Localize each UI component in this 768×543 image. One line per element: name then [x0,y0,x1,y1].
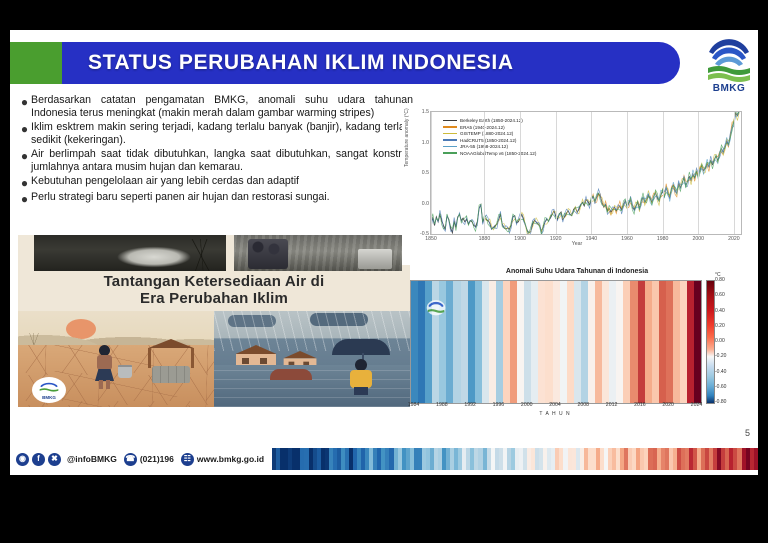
legend-label: NOAAGlobalTemp v6 (1850-2024.12) [460,151,536,156]
chart1-legend-item: GISTEMP (1880-2024.12) [443,131,536,136]
bmkg-badge-text: BMKG [42,395,56,400]
stripe-year [475,281,482,403]
website-url: www.bmkg.go.id [197,454,264,464]
chart2-x-tick: 1996 [493,402,505,408]
slide-number: 5 [745,428,750,438]
chart2-x-tick: 2012 [606,402,618,408]
chart1-gridline [591,112,592,234]
phone-icon[interactable]: ☎ [124,453,137,466]
photo-collage: Tantangan Ketersediaan Air di Era Peruba… [18,235,410,407]
illustration: BMKG [18,311,410,407]
colorbar-tick: 0.00 [715,338,725,344]
chart1-gridline [698,112,699,234]
colorbar-tick: -0.80 [715,399,726,405]
stripe-year [623,281,630,403]
footer-contact: ◉ f ✖ @infoBMKG ☎ (021)196 ☷ www.bmkg.go… [10,448,272,470]
title-blue-banner: STATUS PERUBAHAN IKLIM INDONESIA [62,42,680,84]
bmkg-watermark-badge: BMKG [32,377,66,403]
bullet-item: ● Air berlimpah saat tidak dibutuhkan, l… [18,148,413,174]
bullet-item: ● Berdasarkan catatan pengamatan BMKG, a… [18,94,413,120]
stripe-year [567,281,574,403]
bmkg-logo-text: BMKG [700,83,758,94]
legend-color-swatch [443,146,457,148]
collage-title-line2: Era Perubahan Iklim [18,290,410,307]
figure-leg [99,380,103,389]
stripe-year [531,281,538,403]
global-temperature-chart: Temperature anomaly (°C) Berkeley Earth … [402,105,752,265]
footer-bar: ◉ f ✖ @infoBMKG ☎ (021)196 ☷ www.bmkg.go… [10,448,758,470]
legend-label: Berkeley Earth (1850-2024.12) [460,118,523,123]
chart1-x-tick: 1880 [479,236,491,242]
stripe-year [453,281,460,403]
title-green-accent [10,42,62,84]
stripe-year [545,281,552,403]
chart2-x-tick: 2008 [578,402,590,408]
phone-number: (021)196 [140,454,174,464]
chart1-gridline [520,112,521,234]
colorbar-tick: -0.60 [715,384,726,390]
collage-title: Tantangan Ketersediaan Air di Era Peruba… [18,273,410,307]
stripe-year [574,281,581,403]
chart2-x-tick: 2000 [521,402,533,408]
chart1-y-axis-label: Temperature anomaly (°C) [404,108,410,167]
chart1-x-axis-label: Year [572,241,582,247]
chart1-legend: Berkeley Earth (1850-2024.12)ERA5 (1940-… [443,118,536,157]
stripe-year [524,281,531,403]
stripe-year [538,281,545,403]
bucket-icon [118,365,132,378]
umbrella-icon [332,339,390,355]
flood-illustration [214,311,410,407]
colorbar-tick: 0.60 [715,292,725,298]
chart1-gridline [556,112,557,234]
chart1-gridline [484,112,485,234]
indonesia-warming-stripes-chart: Anomali Suhu Udara Tahunan di Indonesia … [402,268,752,438]
stripe-year [581,281,588,403]
figure-torso [97,355,112,370]
chart1-y-tick: 1.5 [422,109,429,115]
figure-skirt [95,369,114,381]
well-post [191,348,194,368]
chart1-gridline [431,112,432,234]
chart1-series-1 [591,112,739,215]
globe-icon[interactable]: ☷ [181,453,194,466]
stripe-year [616,281,623,403]
house-window [260,358,267,364]
bullet-text: Berdasarkan catatan pengamatan BMKG, ano… [31,94,413,120]
presentation-slide: STATUS PERUBAHAN IKLIM INDONESIA BMKG ● … [10,30,758,475]
figure-legs [354,387,368,395]
social-handle: @infoBMKG [67,454,117,464]
colorbar-tick: 0.40 [715,308,725,314]
chart1-x-tick: 1960 [621,236,633,242]
chart2-x-tick: 2004 [549,402,561,408]
stripe-year [687,281,694,403]
stripe-year [560,281,567,403]
colorbar-tick: -0.40 [715,369,726,375]
stripe-year [602,281,609,403]
house-roof [280,351,321,358]
chart1-x-tick: 1940 [586,236,598,242]
chart1-x-tick: 1920 [550,236,562,242]
woman-figure [92,345,118,389]
stripe-year [411,281,418,403]
colorbar-tick: 0.20 [715,323,725,329]
figure-leg [106,380,110,389]
screenshot-root: STATUS PERUBAHAN IKLIM INDONESIA BMKG ● … [0,0,768,543]
chart1-x-tick: 2020 [728,236,740,242]
stripe-year [496,281,503,403]
chart1-plot-area: Berkeley Earth (1850-2024.12)ERA5 (1940-… [430,111,742,235]
chart1-gridline [627,112,628,234]
stripe-year [652,281,659,403]
chart1-y-tick: 0.5 [422,170,429,176]
bullet-dot-icon: ● [18,175,31,190]
house-roof [231,345,281,354]
chart1-legend-item: JRA-55 (1958-2024.12) [443,144,536,149]
bmkg-logo: BMKG [700,35,758,103]
bullet-text: Iklim esktrem makin sering terjadi, kada… [31,121,413,147]
bmkg-logo-mark [703,35,755,85]
legend-color-swatch [443,139,457,141]
bullet-dot-icon: ● [18,148,31,174]
chart2-x-tick: 2024 [691,402,703,408]
legend-color-swatch [443,120,457,122]
chart1-x-tick: 1850 [425,236,437,242]
bmkg-watermark-icon [425,299,447,323]
stripe-year [680,281,687,403]
stripe-year [694,281,701,403]
bullet-dot-icon: ● [18,94,31,120]
legend-color-swatch [443,126,457,128]
chart2-x-tick: 1992 [464,402,476,408]
stripe-year [482,281,489,403]
chart1-y-tick: 0.0 [422,201,429,207]
page-title: STATUS PERUBAHAN IKLIM INDONESIA [88,51,514,75]
photo-row [18,235,410,271]
bullet-dot-icon: ● [18,121,31,147]
chart2-colorbar: °C 0.800.600.400.200.00-0.20-0.40-0.60-0… [706,280,740,402]
legend-label: ERA5 (1940-2024.12) [460,125,505,130]
chart2-x-tick: 2016 [634,402,646,408]
stripe-year [510,281,517,403]
stripe-year [588,281,595,403]
footer-stripe [754,448,758,470]
drought-photo [34,235,226,271]
submerged-car [270,369,312,380]
bullet-item: ● Perlu strategi baru seperti panen air … [18,191,413,206]
chart1-legend-item: ERA5 (1940-2024.12) [443,125,536,130]
stripe-year [609,281,616,403]
stripe-year [489,281,496,403]
figure-torso [350,370,372,388]
bullet-item: ● Iklim esktrem makin sering terjadi, ka… [18,121,413,147]
chart1-x-tick: 1980 [657,236,669,242]
bmkg-badge-mark [38,381,60,395]
stripe-year [666,281,673,403]
bullet-list: ● Berdasarkan catatan pengamatan BMKG, a… [18,94,413,207]
water-waves [214,365,410,407]
drought-illustration: BMKG [18,311,214,407]
bullet-text: Kebutuhan pengelolaan air yang lebih cer… [31,175,413,190]
instagram-icon[interactable]: ◉ [16,453,29,466]
chart1-legend-item: HadCRUT5 (1850-2024.12) [443,138,536,143]
stripe-year [645,281,652,403]
stripe-year [673,281,680,403]
slide-title-bar: STATUS PERUBAHAN IKLIM INDONESIA [10,42,758,84]
man-figure [346,355,376,395]
stripe-year [461,281,468,403]
chart2-x-tick: 2020 [662,402,674,408]
bullet-dot-icon: ● [18,191,31,206]
facebook-icon[interactable]: f [32,453,45,466]
chart1-gridline [734,112,735,234]
water-well [144,339,198,383]
stripe-year [638,281,645,403]
chart1-gridline [663,112,664,234]
stripe-year [446,281,453,403]
well-post [148,348,151,368]
legend-color-swatch [443,152,457,154]
well-body [152,366,190,383]
chart2-x-tick: 1988 [436,402,448,408]
chart1-x-tick: 2000 [692,236,704,242]
stripe-year [503,281,510,403]
stripe-year [659,281,666,403]
stripe-year [553,281,560,403]
well-roof [144,339,198,348]
chart2-x-tick: 1984 [408,402,420,408]
house-window [242,358,249,364]
stripe-year [517,281,524,403]
legend-label: HadCRUT5 (1850-2024.12) [460,138,516,143]
colorbar-gradient [706,280,715,404]
chart2-x-axis-label: T A H U N [410,411,700,417]
collage-title-line1: Tantangan Ketersediaan Air di [18,273,410,290]
footer-warming-stripes [272,448,758,470]
legend-label: GISTEMP (1880-2024.12) [460,131,513,136]
bullet-text: Perlu strategi baru seperti panen air hu… [31,191,413,206]
legend-color-swatch [443,133,457,135]
bullet-text: Air berlimpah saat tidak dibutuhkan, lan… [31,148,413,174]
chart1-x-tick: 1900 [514,236,526,242]
chart1-y-tick: 1.0 [422,140,429,146]
bullet-item: ● Kebutuhan pengelolaan air yang lebih c… [18,175,413,190]
colorbar-tick: -0.20 [715,353,726,359]
stripe-year [630,281,637,403]
flood-photo [234,235,402,271]
stripe-year [468,281,475,403]
chart2-stripes [410,280,702,404]
chart1-legend-item: Berkeley Earth (1850-2024.12) [443,118,536,123]
x-twitter-icon[interactable]: ✖ [48,453,61,466]
chart1-legend-item: NOAAGlobalTemp v6 (1850-2024.12) [443,151,536,156]
stripe-year [595,281,602,403]
colorbar-tick: 0.80 [715,277,725,283]
chart1-series-4 [623,112,739,208]
chart2-title: Anomali Suhu Udara Tahunan di Indonesia [402,268,752,275]
